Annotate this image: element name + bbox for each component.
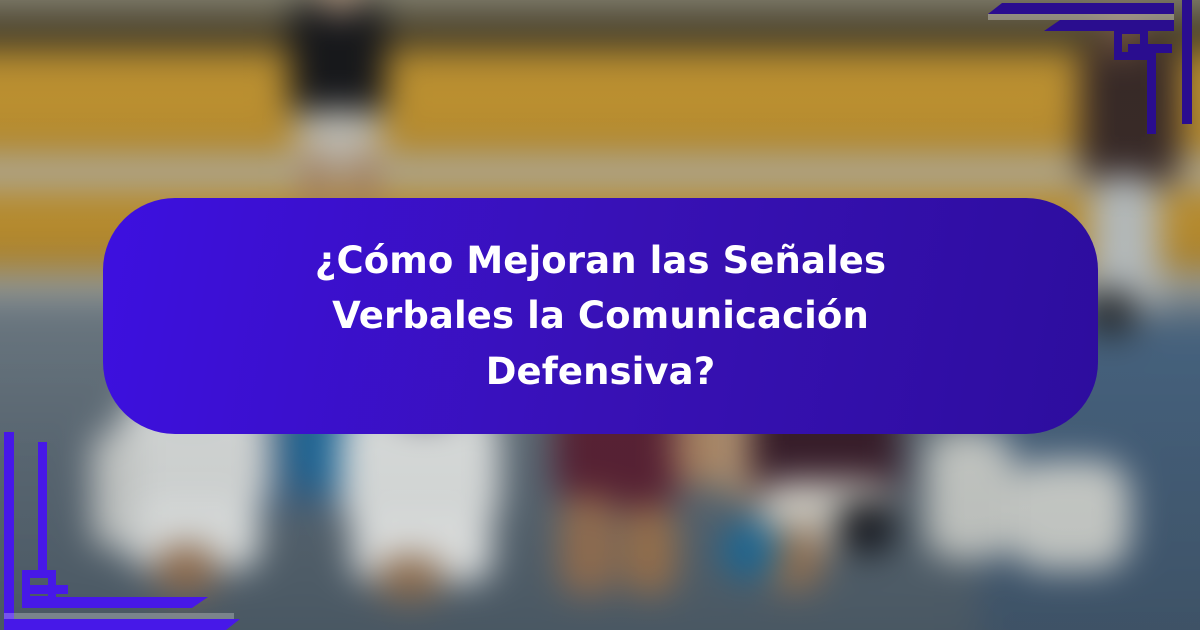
bl-outer-vertical-line [4, 432, 14, 630]
tr-outer-vertical-line [1182, 0, 1192, 124]
tr-angled-bar-lower [1044, 20, 1174, 31]
tr-angled-bar-upper [988, 3, 1174, 14]
title-card: ¿Cómo Mejoran las Señales Verbales la Co… [103, 198, 1098, 434]
bl-angled-bar-upper [22, 597, 208, 608]
share-card-canvas: ¿Cómo Mejoran las Señales Verbales la Co… [0, 0, 1200, 630]
bl-highlight-bar [4, 613, 234, 619]
page-title: ¿Cómo Mejoran las Señales Verbales la Co… [251, 233, 951, 400]
tr-highlight-bar [988, 14, 1174, 20]
bl-inner-vertical-line [38, 442, 47, 570]
bl-angled-bar-lower [4, 619, 240, 630]
bottom-left-corner-ornament [0, 410, 230, 630]
top-right-corner-ornament [980, 0, 1200, 170]
tr-small-square [1114, 26, 1148, 60]
tr-inner-vertical-line [1147, 52, 1156, 134]
